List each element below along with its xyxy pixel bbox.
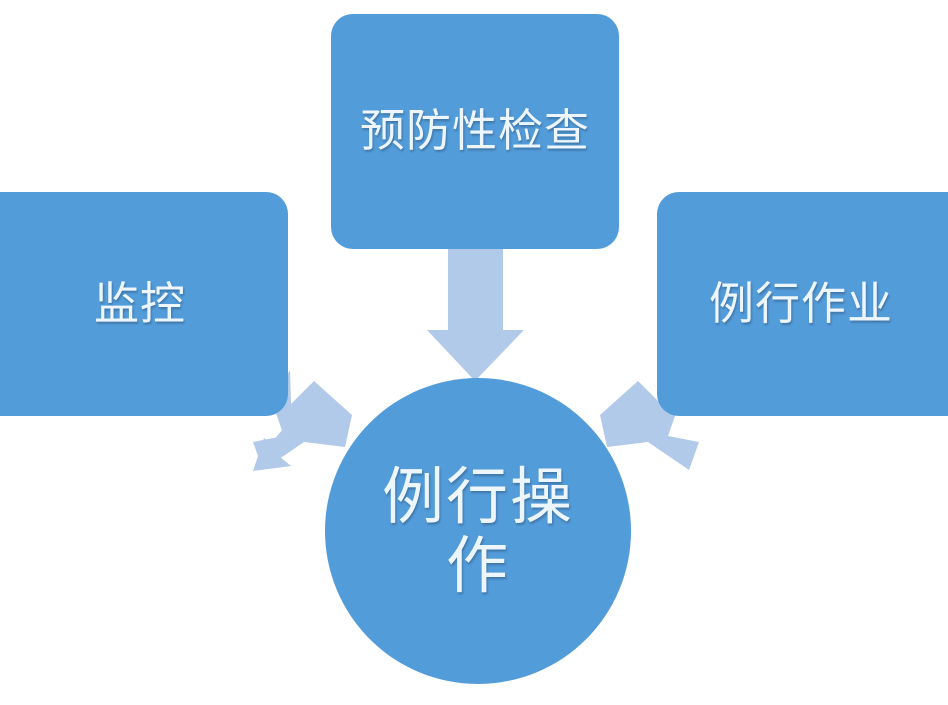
diagram-canvas: 监控 预防性检查 例行作业 例行操 作 — [0, 0, 948, 705]
node-routine-tasks-label: 例行作业 — [709, 279, 893, 329]
node-preventive-inspection[interactable]: 预防性检查 — [331, 14, 619, 249]
node-routine-operation-label: 例行操 作 — [382, 462, 574, 601]
node-monitoring-label: 监控 — [94, 279, 186, 329]
node-monitoring[interactable]: 监控 — [0, 192, 288, 416]
node-routine-operation-label-line1: 例行操 — [382, 462, 574, 531]
node-preventive-inspection-label: 预防性检查 — [360, 106, 590, 156]
node-routine-operation[interactable]: 例行操 作 — [325, 378, 631, 684]
node-routine-tasks[interactable]: 例行作业 — [657, 192, 948, 416]
node-routine-operation-label-line2: 作 — [382, 531, 574, 600]
arrow-down-icon — [427, 249, 524, 381]
